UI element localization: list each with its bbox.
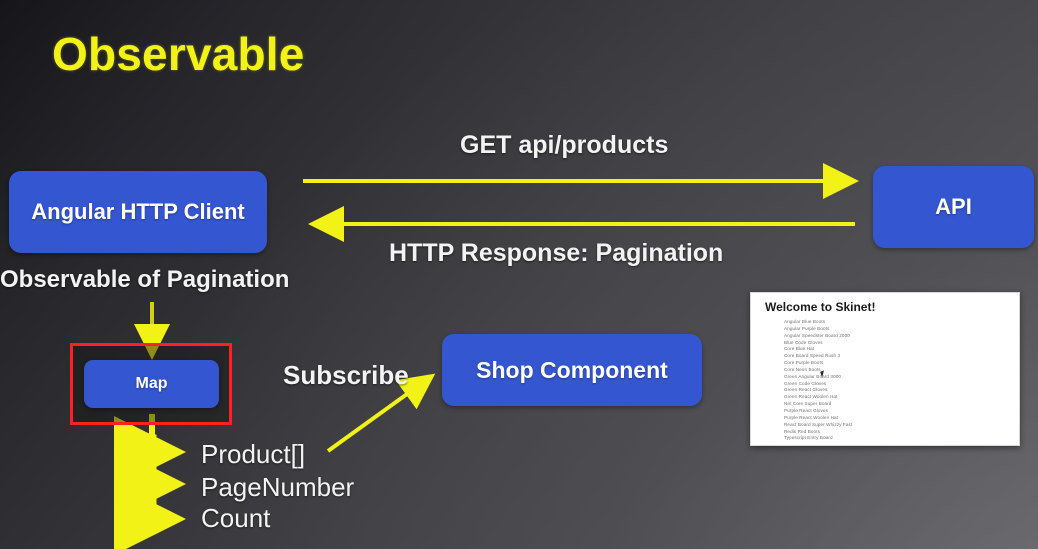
node-shop-component[interactable]: Shop Component <box>442 334 702 406</box>
browser-preview-product-item: Blue Code Gloves <box>784 340 1013 347</box>
label-request: GET api/products <box>460 131 668 160</box>
browser-preview-product-item: Typescript Entry Board <box>784 435 1013 442</box>
browser-preview-product-item: Core Neon Boots <box>784 367 1013 374</box>
label-subscribe: Subscribe <box>283 360 409 391</box>
browser-preview-product-item: Purple React Gloves <box>784 408 1013 415</box>
browser-preview-product-item: Purple React Woolen Hat <box>784 415 1013 422</box>
node-shop-component-label: Shop Component <box>476 357 668 384</box>
slide-canvas: Observable GET api <box>0 0 1038 549</box>
node-api[interactable]: API <box>873 166 1034 248</box>
browser-preview-product-item: Green Angular Board 3000 <box>784 374 1013 381</box>
browser-preview-product-item: Net Core Super Board <box>784 401 1013 408</box>
browser-preview-product-list: Angular Blue BootsAngular Purple BootsAn… <box>784 319 1013 442</box>
browser-preview-product-item: Angular Blue Boots <box>784 319 1013 326</box>
browser-preview-product-item: Core Board Speed Rush 3 <box>784 353 1013 360</box>
output-label-product: Product[] <box>201 439 305 470</box>
browser-preview-product-item: Angular Speedster Board 2000 <box>784 333 1013 340</box>
browser-preview-heading: Welcome to Skinet! <box>765 300 875 314</box>
node-map-operator-label: Map <box>136 375 168 393</box>
browser-preview-product-item: Core Blue Hat <box>784 346 1013 353</box>
node-api-label: API <box>935 194 972 220</box>
browser-preview-product-item: Redis Red Boots <box>784 429 1013 436</box>
output-label-count: Count <box>201 503 270 534</box>
node-map-operator[interactable]: Map <box>84 360 219 408</box>
label-response: HTTP Response: Pagination <box>389 239 723 268</box>
output-label-pagenumber: PageNumber <box>201 472 354 503</box>
browser-preview-panel: Welcome to Skinet! Angular Blue BootsAng… <box>750 292 1020 446</box>
browser-preview-product-item: Green React Gloves <box>784 387 1013 394</box>
browser-preview-product-item: Green Code Gloves <box>784 381 1013 388</box>
browser-preview-product-item: Core Purple Boots <box>784 360 1013 367</box>
browser-preview-product-item: React Board Super Whizzy Fast <box>784 422 1013 429</box>
label-observable: Observable of Pagination <box>0 266 289 294</box>
node-angular-http-client[interactable]: Angular HTTP Client <box>9 171 267 253</box>
page-title: Observable <box>52 27 305 81</box>
browser-preview-product-item: Angular Purple Boots <box>784 326 1013 333</box>
node-angular-http-client-label: Angular HTTP Client <box>31 199 245 225</box>
browser-preview-product-item: Green React Woolen Hat <box>784 394 1013 401</box>
